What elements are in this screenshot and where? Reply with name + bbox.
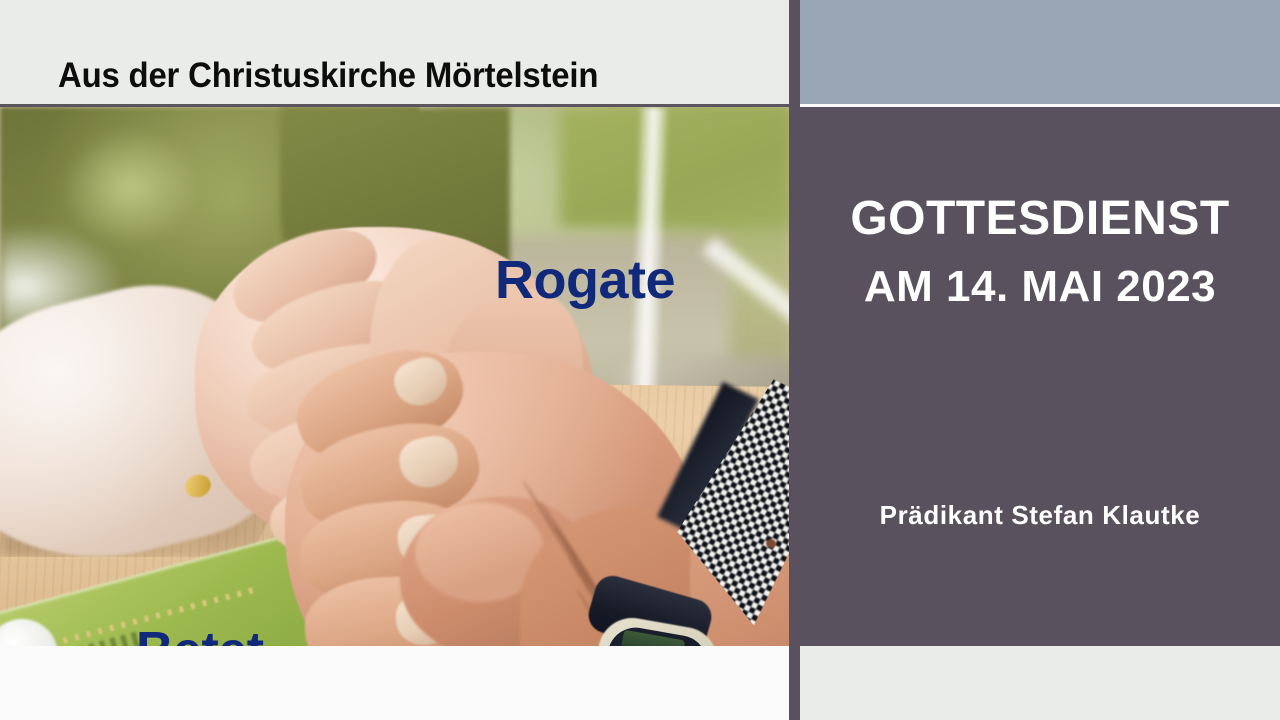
footer-right-band (800, 646, 1280, 720)
footer-left-band (0, 646, 789, 720)
photo-background-grass (560, 107, 789, 227)
column-gutter (789, 0, 800, 720)
overlay-word-rogate: Rogate (495, 253, 675, 307)
service-title: GOTTESDIENST (800, 191, 1280, 246)
right-top-band (800, 0, 1280, 104)
service-info-panel: GOTTESDIENST AM 14. MAI 2023 Prädikant S… (800, 107, 1280, 646)
skin-mole (766, 539, 776, 548)
column-gutter-top (789, 0, 800, 104)
slide-root: Aus der Christuskirche Mörtelstein (0, 0, 1280, 720)
header-band: Aus der Christuskirche Mörtelstein (0, 0, 789, 104)
praying-hands-photo: 12 1 2 3 4 5 6 7 8 9 10 11 Rogate Betet (0, 107, 789, 646)
overlay-word-betet: Betet (136, 625, 264, 646)
service-speaker: Prädikant Stefan Klautke (800, 500, 1280, 531)
service-date: AM 14. MAI 2023 (800, 262, 1280, 312)
page-title: Aus der Christuskirche Mörtelstein (58, 56, 598, 96)
